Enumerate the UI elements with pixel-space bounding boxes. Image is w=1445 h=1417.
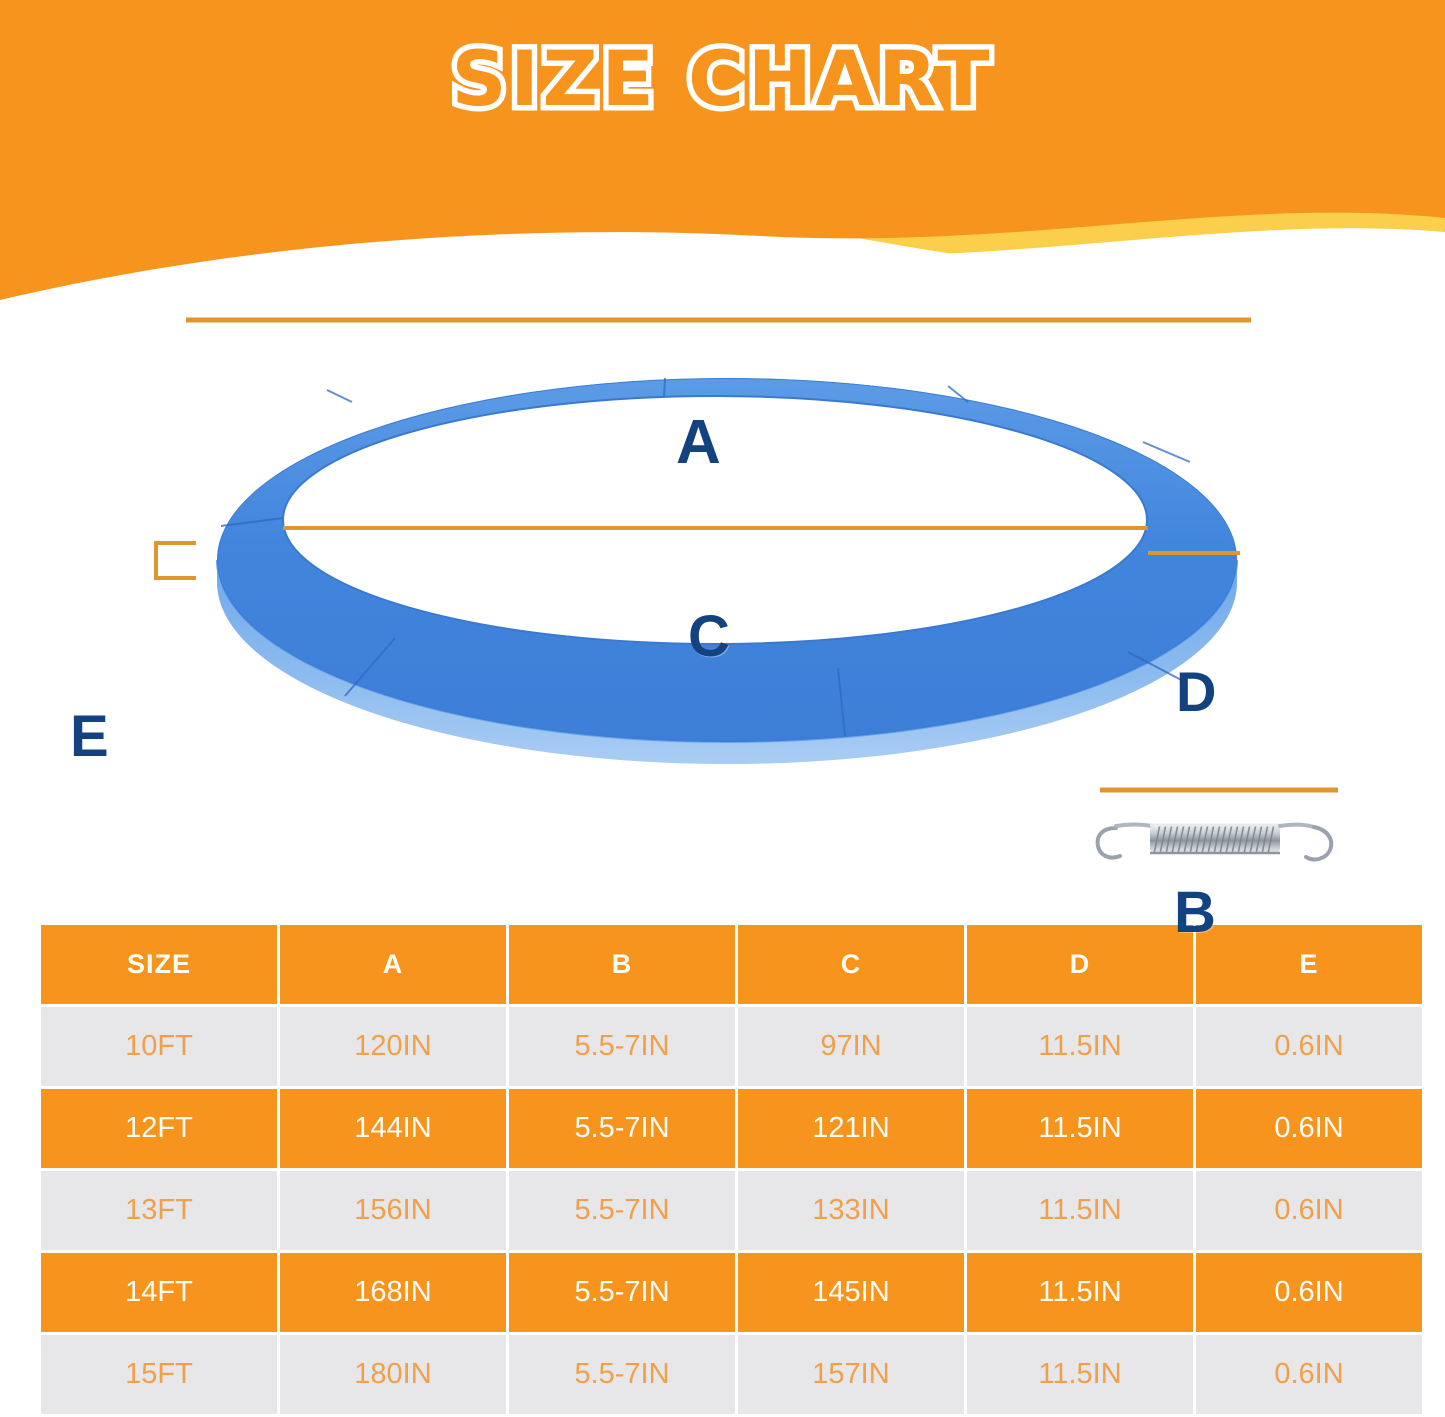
table-cell-b-14ft: 5.5-7IN xyxy=(509,1253,735,1332)
table-col-header-b: B xyxy=(509,925,735,1004)
product-diagram: A C D E B xyxy=(0,190,1445,910)
dimension-label-C: C xyxy=(688,608,730,666)
dimension-label-B: B xyxy=(1174,884,1216,942)
table-cell-c-13ft: 133IN xyxy=(738,1171,964,1250)
table-cell-e-13ft: 0.6IN xyxy=(1196,1171,1422,1250)
table-cell-c-15ft: 157IN xyxy=(738,1335,964,1414)
table-cell-size-14ft: 14FT xyxy=(41,1253,277,1332)
table-cell-d-10ft: 11.5IN xyxy=(967,1007,1193,1086)
table-row: 15FT180IN5.5-7IN157IN11.5IN0.6IN xyxy=(41,1335,1422,1414)
table-cell-d-14ft: 11.5IN xyxy=(967,1253,1193,1332)
table-cell-e-12ft: 0.6IN xyxy=(1196,1089,1422,1168)
table-cell-a-15ft: 180IN xyxy=(280,1335,506,1414)
table-cell-size-10ft: 10FT xyxy=(41,1007,277,1086)
table-cell-size-15ft: 15FT xyxy=(41,1335,277,1414)
table-row: 14FT168IN5.5-7IN145IN11.5IN0.6IN xyxy=(41,1253,1422,1332)
table-cell-c-12ft: 121IN xyxy=(738,1089,964,1168)
table-cell-b-10ft: 5.5-7IN xyxy=(509,1007,735,1086)
table-cell-e-15ft: 0.6IN xyxy=(1196,1335,1422,1414)
table-cell-b-15ft: 5.5-7IN xyxy=(509,1335,735,1414)
table-cell-e-14ft: 0.6IN xyxy=(1196,1253,1422,1332)
page-title: SIZE CHART xyxy=(0,34,1445,123)
size-table-container: SIZEABCDE 10FT120IN5.5-7IN97IN11.5IN0.6I… xyxy=(38,922,1406,1417)
table-cell-size-12ft: 12FT xyxy=(41,1089,277,1168)
size-chart-page: SIZE CHART SIZE CHART xyxy=(0,0,1445,1417)
dimension-label-A: A xyxy=(676,412,721,474)
table-row: 12FT144IN5.5-7IN121IN11.5IN0.6IN xyxy=(41,1089,1422,1168)
table-cell-a-12ft: 144IN xyxy=(280,1089,506,1168)
table-cell-e-10ft: 0.6IN xyxy=(1196,1007,1422,1086)
dimension-label-D: D xyxy=(1176,664,1216,720)
table-cell-c-14ft: 145IN xyxy=(738,1253,964,1332)
table-cell-c-10ft: 97IN xyxy=(738,1007,964,1086)
thickness-bracket-E xyxy=(156,543,196,578)
table-cell-b-13ft: 5.5-7IN xyxy=(509,1171,735,1250)
table-cell-d-13ft: 11.5IN xyxy=(967,1171,1193,1250)
table-cell-b-12ft: 5.5-7IN xyxy=(509,1089,735,1168)
pad-top-ring xyxy=(217,378,1237,742)
table-cell-a-10ft: 120IN xyxy=(280,1007,506,1086)
size-table: SIZEABCDE 10FT120IN5.5-7IN97IN11.5IN0.6I… xyxy=(38,922,1425,1417)
table-cell-d-12ft: 11.5IN xyxy=(967,1089,1193,1168)
table-cell-d-15ft: 11.5IN xyxy=(967,1335,1193,1414)
trampoline-pad-illustration xyxy=(0,190,1445,910)
trampoline-spring xyxy=(1098,824,1332,859)
table-col-header-c: C xyxy=(738,925,964,1004)
table-cell-a-14ft: 168IN xyxy=(280,1253,506,1332)
table-body: 10FT120IN5.5-7IN97IN11.5IN0.6IN12FT144IN… xyxy=(41,1007,1422,1414)
table-cell-a-13ft: 156IN xyxy=(280,1171,506,1250)
dimension-label-E: E xyxy=(70,708,109,766)
table-col-header-a: A xyxy=(280,925,506,1004)
table-row: 13FT156IN5.5-7IN133IN11.5IN0.6IN xyxy=(41,1171,1422,1250)
table-col-header-e: E xyxy=(1196,925,1422,1004)
table-col-header-size: SIZE xyxy=(41,925,277,1004)
table-row: 10FT120IN5.5-7IN97IN11.5IN0.6IN xyxy=(41,1007,1422,1086)
table-col-header-d: D xyxy=(967,925,1193,1004)
table-cell-size-13ft: 13FT xyxy=(41,1171,277,1250)
